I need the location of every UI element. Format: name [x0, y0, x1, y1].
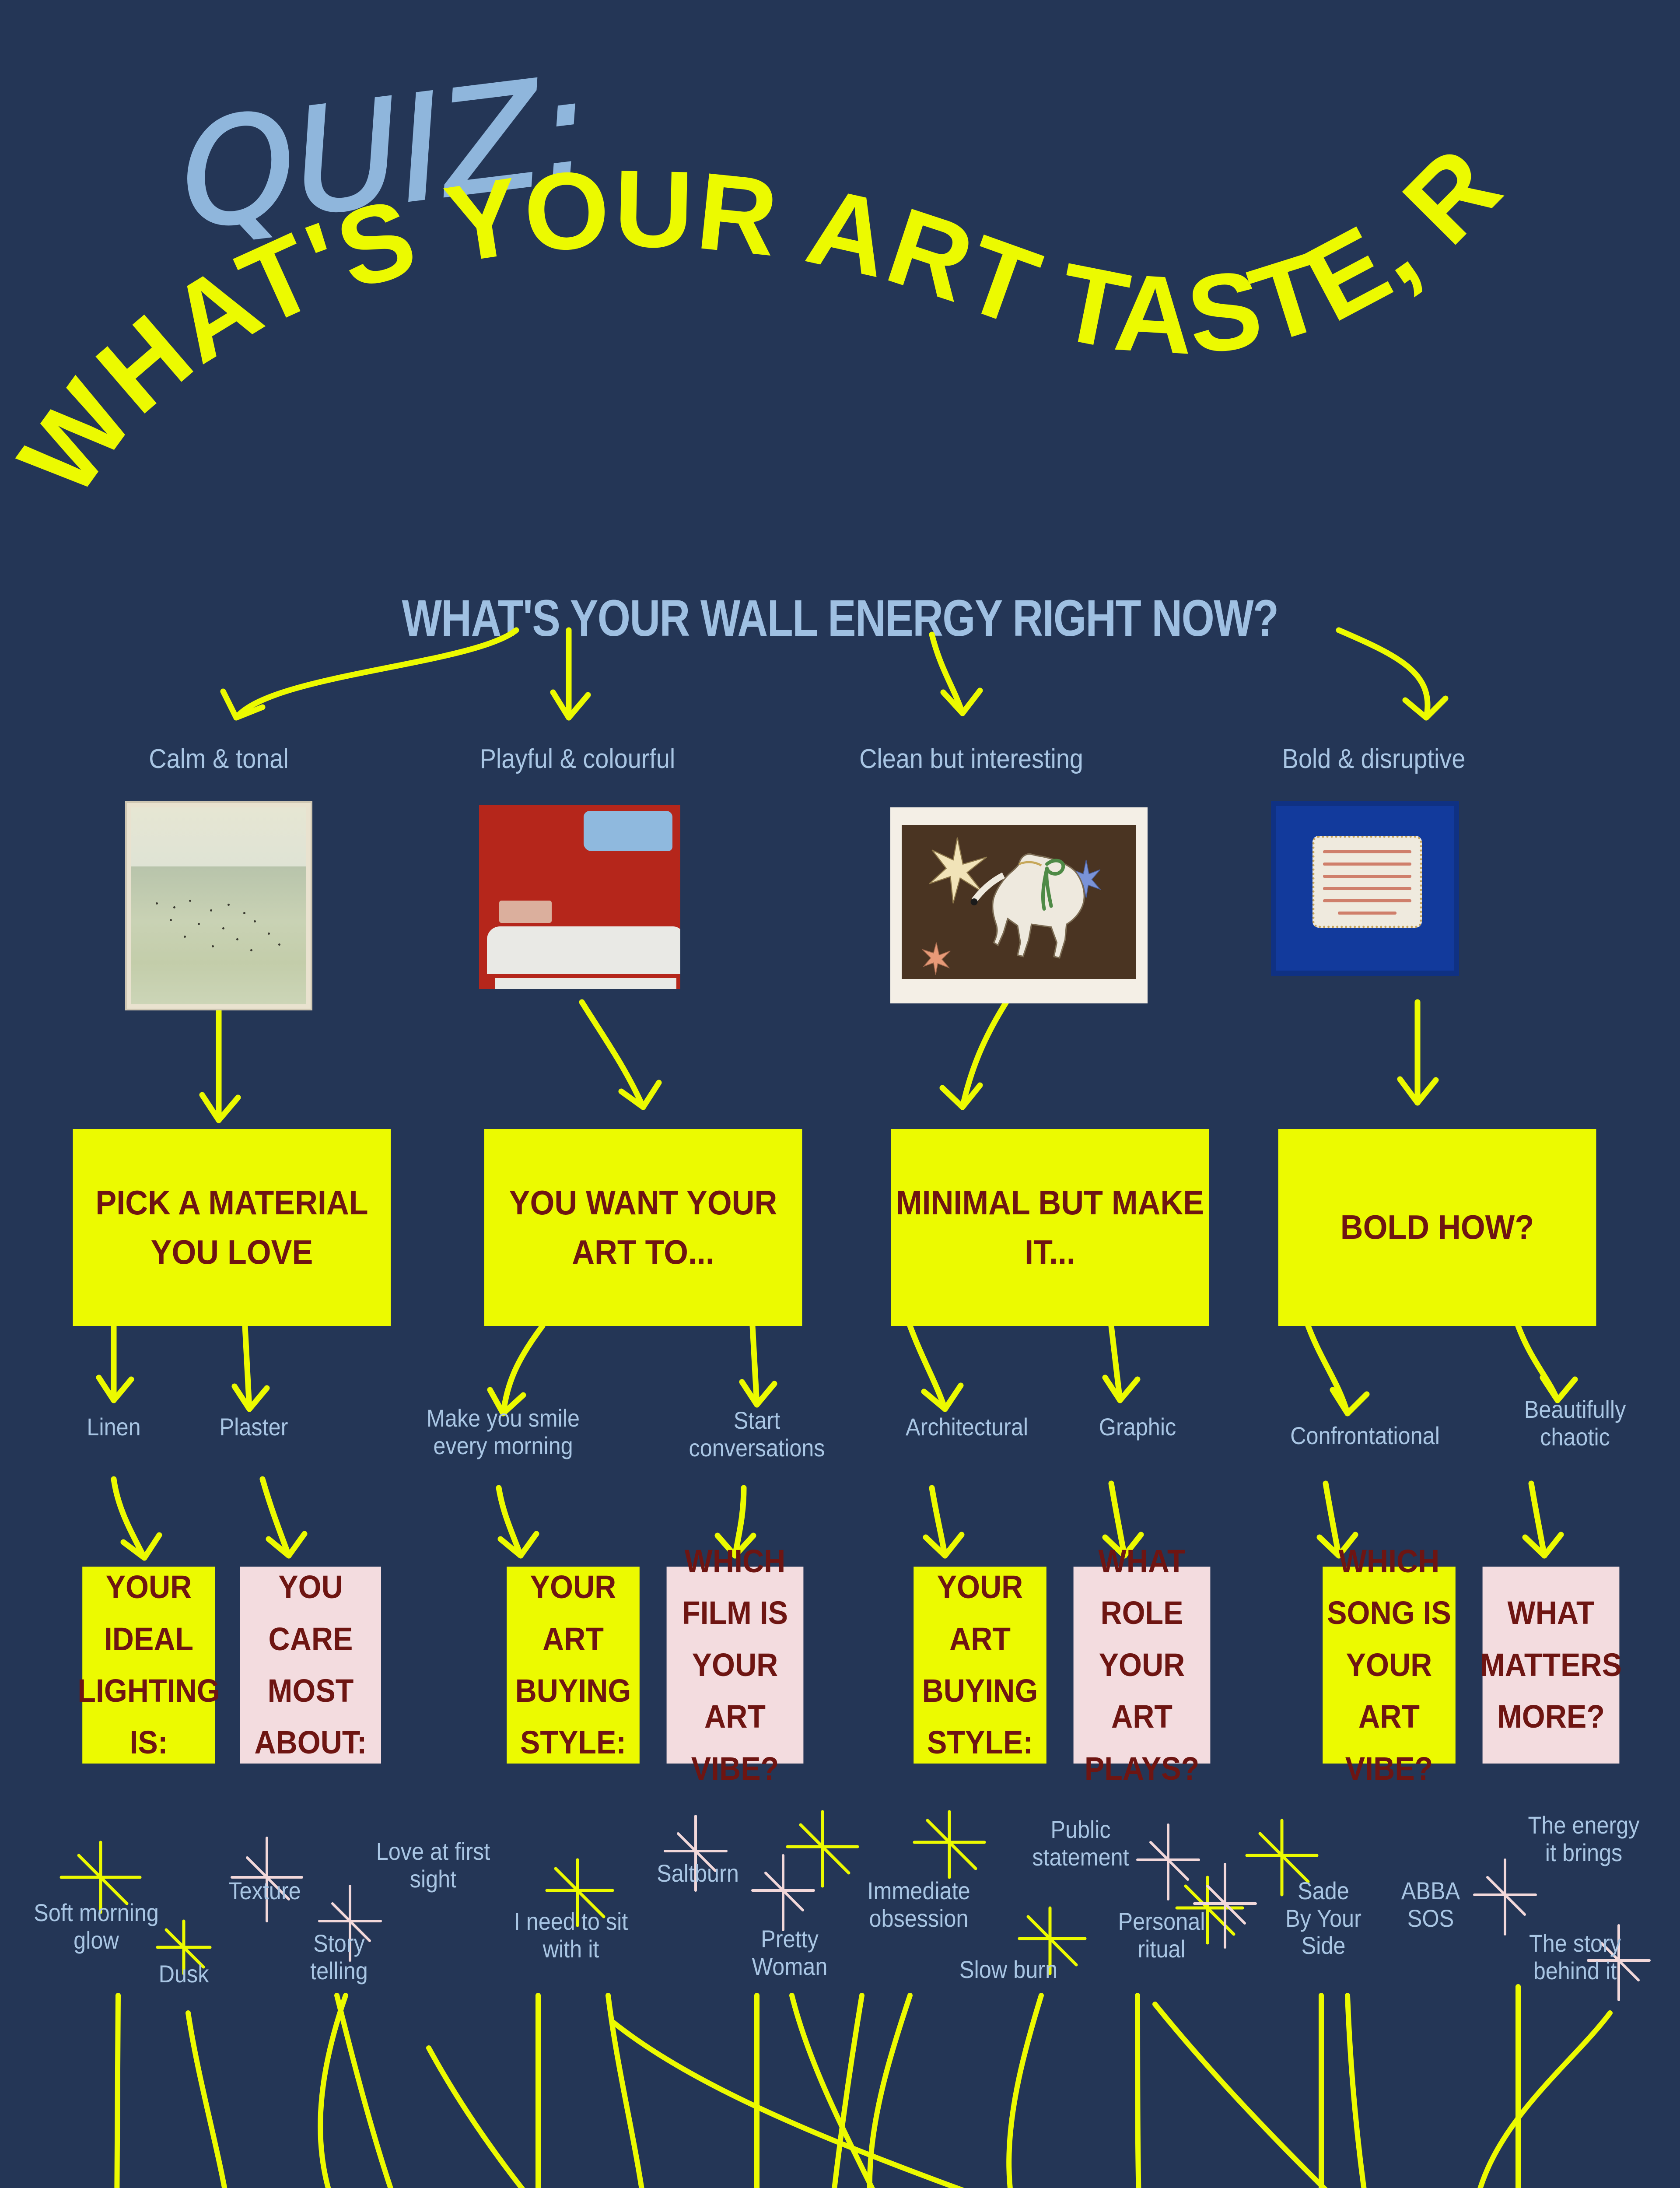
answer-sade-by-your-side[interactable]: Sade By Your Side — [1263, 1877, 1385, 1960]
answer-linen[interactable]: Linen — [43, 1413, 185, 1441]
question-box-material[interactable]: PICK A MATERIAL YOU LOVE — [73, 1129, 391, 1326]
subquestion-buying-style-2[interactable]: YOUR ART BUYING STYLE: — [913, 1567, 1046, 1764]
answer-architectural[interactable]: Architectural — [857, 1413, 1077, 1441]
answer-make-you-smile[interactable]: Make you smile every morning — [389, 1405, 617, 1459]
answer-dusk[interactable]: Dusk — [133, 1960, 235, 1988]
coral-star-icon — [922, 943, 950, 975]
subquestion-which-song[interactable]: WHICH SONG IS YOUR ART VIBE? — [1323, 1567, 1456, 1764]
red-abstract-blue-shape — [584, 811, 672, 851]
answer-love-at-first-sight[interactable]: Love at first sight — [354, 1838, 512, 1893]
main-question: WHAT'S YOUR WALL ENERGY RIGHT NOW? — [151, 589, 1529, 648]
answer-the-energy-it-brings[interactable]: The energy it brings — [1497, 1812, 1670, 1866]
answer-slow-burn[interactable]: Slow burn — [941, 1956, 1075, 1984]
answer-plaster[interactable]: Plaster — [183, 1413, 325, 1441]
question-box-bold[interactable]: BOLD HOW? — [1278, 1129, 1596, 1326]
answer-abba-sos[interactable]: ABBA SOS — [1379, 1877, 1482, 1932]
artwork-embroidery[interactable] — [1271, 801, 1459, 976]
answer-personal-ritual[interactable]: Personal ritual — [1097, 1908, 1227, 1963]
answer-start-conversations[interactable]: Start conversations — [658, 1407, 855, 1462]
seascape-sky — [131, 807, 306, 866]
red-abstract-white-base — [495, 978, 676, 989]
subquestion-ideal-lighting[interactable]: YOUR IDEAL LIGHTING IS: — [82, 1567, 215, 1764]
red-abstract-peach-shape — [499, 901, 552, 922]
horse-artwork-field — [902, 825, 1136, 979]
subquestion-what-role[interactable]: WHAT ROLE YOUR ART PLAYS? — [1074, 1567, 1211, 1764]
answer-saltburn[interactable]: Saltburn — [637, 1860, 759, 1887]
question-box-art-to[interactable]: YOU WANT YOUR ART TO... — [484, 1129, 802, 1326]
answer-immediate-obsession[interactable]: Immediate obsession — [840, 1877, 997, 1932]
answer-pretty-woman[interactable]: Pretty Woman — [727, 1925, 853, 1980]
subquestion-which-film[interactable]: WHICH FILM IS YOUR ART VIBE? — [667, 1567, 804, 1764]
subquestion-what-matters[interactable]: WHAT MATTERS MORE? — [1483, 1567, 1620, 1764]
option-label-playful[interactable]: Playful & colourful — [455, 744, 700, 774]
option-label-bold[interactable]: Bold & disruptive — [1252, 744, 1496, 774]
question-box-minimal[interactable]: MINIMAL BUT MAKE IT... — [891, 1129, 1209, 1326]
subquestion-care-most-about[interactable]: YOU CARE MOST ABOUT: — [240, 1567, 381, 1764]
white-horse-icon — [993, 854, 1084, 958]
answer-the-story-behind-it[interactable]: The story behind it — [1496, 1930, 1654, 1985]
answer-texture[interactable]: Texture — [208, 1877, 322, 1905]
red-abstract-white-shape — [487, 926, 680, 974]
infographic-canvas: QUIZ: WHAT'S YOUR ART TASTE, REALLY? WHA… — [0, 0, 1680, 2188]
answer-story-telling[interactable]: Story telling — [286, 1930, 392, 1985]
option-label-clean[interactable]: Clean but interesting — [833, 744, 1109, 774]
subquestion-buying-style-1[interactable]: YOUR ART BUYING STYLE: — [507, 1567, 640, 1764]
answer-soft-morning-glow[interactable]: Soft morning glow — [14, 1899, 179, 1954]
answer-need-to-sit-with-it[interactable]: I need to sit with it — [494, 1908, 648, 1963]
answer-beautifully-chaotic[interactable]: Beautifully chaotic — [1488, 1396, 1662, 1451]
option-label-calm[interactable]: Calm & tonal — [112, 744, 325, 774]
answer-public-statement[interactable]: Public statement — [1006, 1816, 1155, 1871]
seascape-sea — [131, 866, 306, 1004]
title-block: QUIZ: WHAT'S YOUR ART TASTE, REALLY? — [0, 0, 1680, 578]
artwork-red-abstract[interactable] — [479, 805, 680, 989]
answer-graphic[interactable]: Graphic — [1055, 1413, 1220, 1441]
answer-confrontational[interactable]: Confrontational — [1243, 1422, 1487, 1450]
embroidered-patch — [1312, 836, 1422, 928]
artwork-seascape[interactable] — [127, 803, 311, 1009]
artwork-horse[interactable] — [890, 807, 1148, 1003]
page-title: WHAT'S YOUR ART TASTE, REALLY? — [0, 0, 1524, 516]
